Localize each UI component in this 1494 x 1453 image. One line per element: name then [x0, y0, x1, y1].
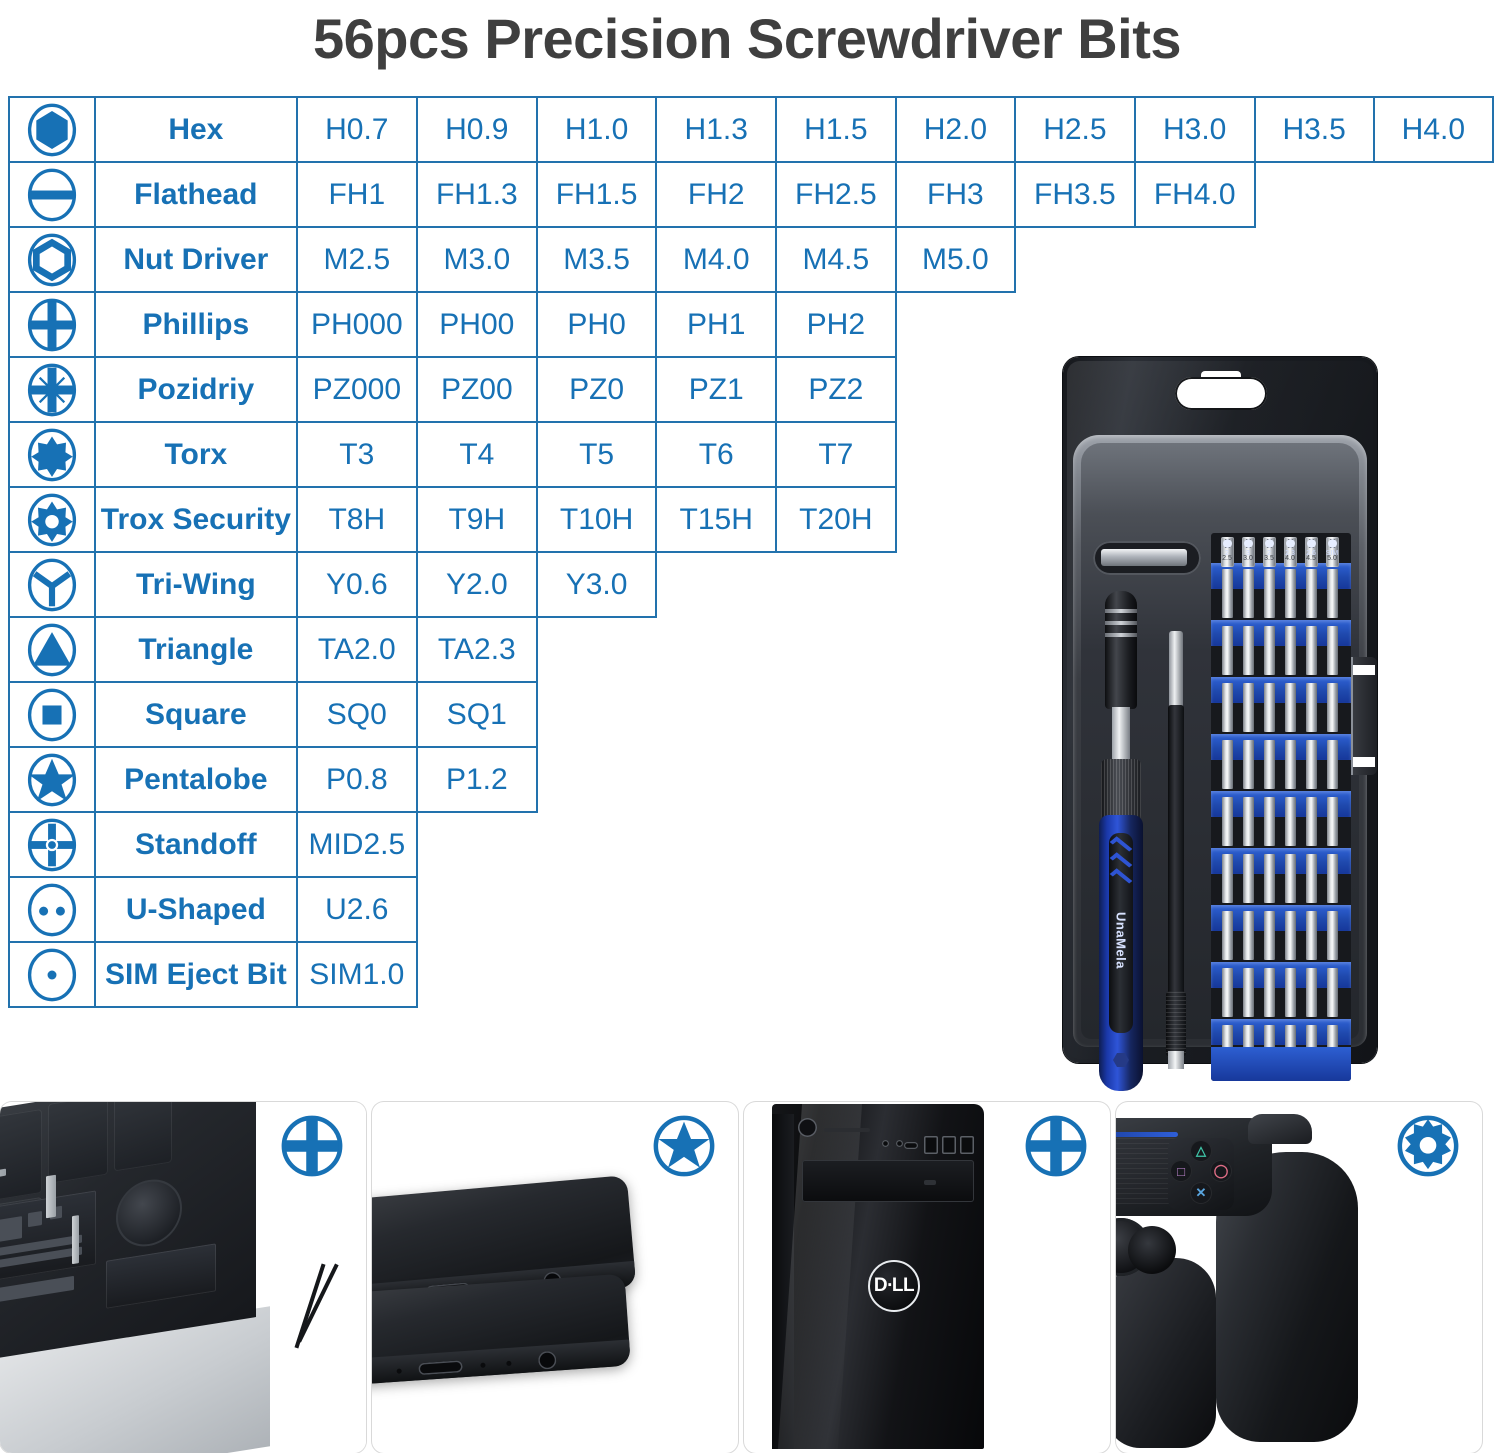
bit-type-name: Hex [95, 97, 297, 162]
panel-desktop: D∙LL [744, 1102, 1110, 1453]
empty-cell [776, 877, 896, 942]
empty-cell [776, 552, 896, 617]
empty-cell [656, 747, 776, 812]
brand-label: UnaMela [1114, 910, 1129, 972]
handle-shaft [1112, 707, 1130, 763]
handle-hex-emblem [1113, 1053, 1129, 1067]
table-row: Nut DriverM2.5M3.0M3.5M4.0M4.5M5.0 [9, 227, 1493, 292]
bit-holder-slot [1093, 541, 1201, 575]
phillips-bit-icon [280, 1114, 344, 1178]
empty-cell [656, 942, 776, 1007]
empty-cell [1374, 617, 1493, 682]
empty-cell [896, 617, 1015, 682]
bit-size-cell: T8H [297, 487, 417, 552]
empty-cell [1255, 227, 1374, 292]
empty-cell [1374, 552, 1493, 617]
tri-wing-bit-icon [9, 552, 95, 617]
bit-size-cell: T9H [417, 487, 537, 552]
empty-cell [1015, 227, 1135, 292]
empty-cell [1374, 162, 1493, 227]
bit-size-cell: FH4.0 [1135, 162, 1255, 227]
bit-size-cell: M3.5 [537, 227, 657, 292]
empty-cell [1374, 487, 1493, 552]
bit-type-name: Torx [95, 422, 297, 487]
empty-cell [1015, 292, 1135, 357]
bit-size-cell: H3.5 [1255, 97, 1374, 162]
bit-size-cell: FH3 [896, 162, 1015, 227]
bit-size-cell: PZ2 [776, 357, 896, 422]
square-bit-icon [9, 682, 95, 747]
bit-size-cell: T10H [537, 487, 657, 552]
phillips-bit-icon [1024, 1114, 1088, 1178]
empty-cell [537, 812, 657, 877]
empty-cell [656, 812, 776, 877]
empty-cell [1374, 747, 1493, 812]
empty-cell [417, 812, 537, 877]
table-row: HexH0.7H0.9H1.0H1.3H1.5H2.0H2.5H3.0H3.5H… [9, 97, 1493, 162]
bit-size-cell: H2.5 [1015, 97, 1135, 162]
bit-size-cell: T15H [656, 487, 776, 552]
bit-type-name: Triangle [95, 617, 297, 682]
bit-size-cell: T4 [417, 422, 537, 487]
bit-type-name: Tri-Wing [95, 552, 297, 617]
empty-cell [896, 487, 1015, 552]
empty-cell [896, 682, 1015, 747]
bit-size-cell: H0.9 [417, 97, 537, 162]
table-row: PhillipsPH000PH00PH0PH1PH2 [9, 292, 1493, 357]
bit-size-cell: T6 [656, 422, 776, 487]
bit-size-cell: Y3.0 [537, 552, 657, 617]
bit-size-cell: H4.0 [1374, 97, 1493, 162]
pentalobe-bit-icon [652, 1114, 716, 1178]
empty-cell [656, 877, 776, 942]
application-photo-panels: D∙LL [0, 1102, 1494, 1453]
torx-security-bit-icon [1396, 1114, 1460, 1178]
nut-driver-bit-icon [9, 227, 95, 292]
empty-cell [1135, 292, 1255, 357]
screwdriver-handle: UnaMela [1099, 591, 1143, 1091]
bit-size-cell: FH2 [656, 162, 776, 227]
bit-size-cell: SQ0 [297, 682, 417, 747]
bit-size-cell: PH00 [417, 292, 537, 357]
empty-cell [896, 292, 1015, 357]
bit-size-cell: Y0.6 [297, 552, 417, 617]
pozidriv-bit-icon [9, 357, 95, 422]
handle-knurl [1101, 759, 1141, 821]
hang-hole [1175, 377, 1267, 410]
empty-cell [776, 812, 896, 877]
u-shaped-bit-icon [9, 877, 95, 942]
bit-size-cell: FH1.5 [537, 162, 657, 227]
bit-size-cell: SIM1.0 [297, 942, 417, 1007]
standoff-bit-icon [9, 812, 95, 877]
panel-phone [372, 1102, 738, 1453]
bit-size-cell: U2.6 [297, 877, 417, 942]
bit-type-name: Pozidriy [95, 357, 297, 422]
empty-cell [896, 747, 1015, 812]
empty-cell [417, 877, 537, 942]
panel-gamepad: △ □ ◯ ✕ [1116, 1102, 1482, 1453]
empty-cell [656, 682, 776, 747]
empty-cell [896, 422, 1015, 487]
empty-cell [776, 747, 896, 812]
bit-size-cell: H1.3 [656, 97, 776, 162]
bit-type-name: U-Shaped [95, 877, 297, 942]
empty-cell [537, 942, 657, 1007]
bit-size-cell: T3 [297, 422, 417, 487]
sim-eject-bit-icon [9, 942, 95, 1007]
empty-cell [537, 682, 657, 747]
bit-size-cell: T5 [537, 422, 657, 487]
bit-size-cell: M3.0 [417, 227, 537, 292]
bit-size-cell: H3.0 [1135, 97, 1255, 162]
torx-security-bit-icon [9, 487, 95, 552]
empty-cell [896, 812, 1015, 877]
bit-type-name: Standoff [95, 812, 297, 877]
bit-type-name: Phillips [95, 292, 297, 357]
bit-size-cell: Y2.0 [417, 552, 537, 617]
bit-size-cell: PH000 [297, 292, 417, 357]
empty-cell [776, 682, 896, 747]
empty-cell [1374, 942, 1493, 1007]
empty-cell [896, 552, 1015, 617]
bit-size-cell: FH1.3 [417, 162, 537, 227]
empty-cell [656, 552, 776, 617]
empty-cell [1255, 292, 1374, 357]
bit-size-cell: P1.2 [417, 747, 537, 812]
bit-size-cell: H1.5 [776, 97, 896, 162]
bit-size-cell: TA2.0 [297, 617, 417, 682]
bit-type-name: Flathead [95, 162, 297, 227]
bit-type-name: Square [95, 682, 297, 747]
bit-size-cell: M5.0 [896, 227, 1015, 292]
panel-laptop [0, 1102, 366, 1453]
bit-size-cell: M4.0 [656, 227, 776, 292]
dell-logo: D∙LL [868, 1260, 920, 1312]
empty-cell [1374, 422, 1493, 487]
hex-bit-icon [9, 97, 95, 162]
bit-size-cell: FH3.5 [1015, 162, 1135, 227]
empty-cell [1135, 227, 1255, 292]
empty-cell [537, 617, 657, 682]
empty-cell [537, 877, 657, 942]
bit-size-cell: FH2.5 [776, 162, 896, 227]
screwdriver-kit-package-photo: UnaMela 2.53.03.54.04.55.02322.32.6SIM [1063, 357, 1377, 1063]
bit-size-cell: H2.0 [896, 97, 1015, 162]
bit-size-cell: H0.7 [297, 97, 417, 162]
bit-size-cell: M2.5 [297, 227, 417, 292]
empty-cell [1374, 812, 1493, 877]
bit-type-name: Pentalobe [95, 747, 297, 812]
handle-cap [1105, 591, 1137, 709]
empty-cell [1374, 227, 1493, 292]
page-title: 56pcs Precision Screwdriver Bits [0, 0, 1494, 80]
bit-case-tray: UnaMela 2.53.03.54.04.55.02322.32.6SIM [1073, 435, 1367, 1047]
bit-size-cell: FH1 [297, 162, 417, 227]
empty-cell [776, 942, 896, 1007]
bit-size-cell: TA2.3 [417, 617, 537, 682]
torx-bit-icon [9, 422, 95, 487]
case-latch [1351, 657, 1377, 775]
phillips-bit-icon [9, 292, 95, 357]
empty-cell [656, 617, 776, 682]
bit-holder-grid: 2.53.03.54.04.55.02322.32.6SIM [1211, 533, 1351, 1081]
extension-bar [1165, 631, 1187, 1073]
bit-size-cell: PH0 [537, 292, 657, 357]
bit-type-name: SIM Eject Bit [95, 942, 297, 1007]
empty-cell [1374, 292, 1493, 357]
flathead-bit-icon [9, 162, 95, 227]
bit-size-cell: PH1 [656, 292, 776, 357]
bit-size-cell: P0.8 [297, 747, 417, 812]
bit-size-cell: PZ1 [656, 357, 776, 422]
bit-size-cell: PZ00 [417, 357, 537, 422]
empty-cell [1374, 357, 1493, 422]
bit-size-cell: PH2 [776, 292, 896, 357]
empty-cell [537, 747, 657, 812]
bit-type-name: Trox Security [95, 487, 297, 552]
table-row: FlatheadFH1FH1.3FH1.5FH2FH2.5FH3FH3.5FH4… [9, 162, 1493, 227]
bit-size-cell: H1.0 [537, 97, 657, 162]
pentalobe-bit-icon [9, 747, 95, 812]
bit-size-cell: T20H [776, 487, 896, 552]
empty-cell [1374, 682, 1493, 747]
bit-type-name: Nut Driver [95, 227, 297, 292]
triangle-bit-icon [9, 617, 95, 682]
bit-size-cell: PZ000 [297, 357, 417, 422]
bit-size-cell: SQ1 [417, 682, 537, 747]
empty-cell [896, 942, 1015, 1007]
product-infographic-page: 56pcs Precision Screwdriver Bits HexH0.7… [0, 0, 1494, 1453]
empty-cell [896, 877, 1015, 942]
handle-grip: UnaMela [1099, 815, 1143, 1091]
empty-cell [776, 617, 896, 682]
empty-cell [417, 942, 537, 1007]
empty-cell [896, 357, 1015, 422]
bit-size-cell: T7 [776, 422, 896, 487]
bit-size-cell: M4.5 [776, 227, 896, 292]
bit-size-cell: MID2.5 [297, 812, 417, 877]
empty-cell [1255, 162, 1374, 227]
empty-cell [1374, 877, 1493, 942]
bit-size-cell: PZ0 [537, 357, 657, 422]
